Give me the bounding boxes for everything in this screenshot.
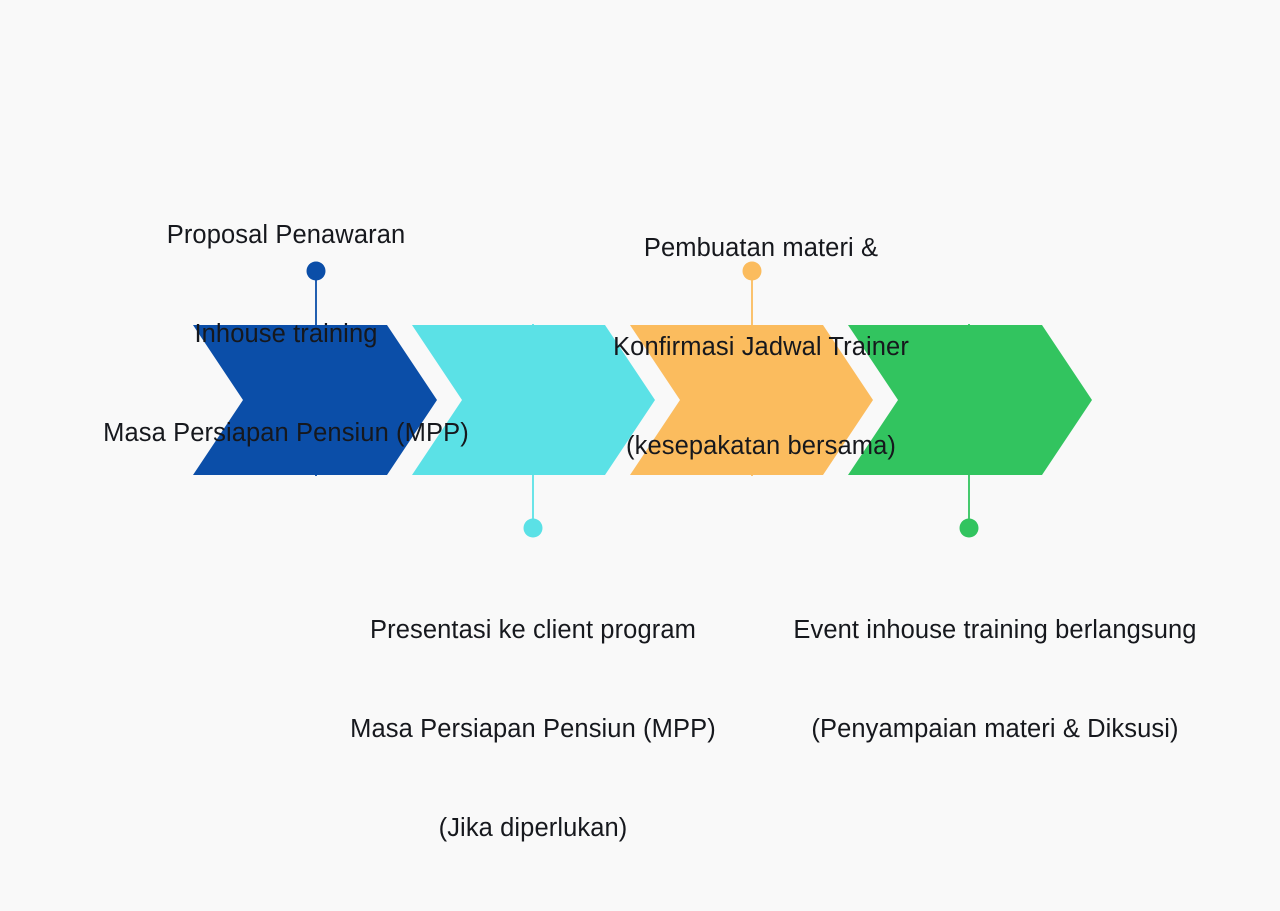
step-2-label-line-1: Presentasi ke client program (263, 614, 803, 647)
step-3-label-line-1: Pembuatan materi & (493, 232, 1029, 265)
step-2-label-line-3: (Jika diperlukan) (263, 812, 803, 845)
step-3-label: Pembuatan materi & Konfirmasi Jadwal Tra… (493, 166, 1029, 529)
step-1-label: Proposal Penawaran Inhouse training Masa… (16, 153, 556, 516)
step-3-label-line-3: (kesepakatan bersama) (493, 430, 1029, 463)
step-4-label: Event inhouse training berlangsung (Peny… (725, 548, 1265, 812)
step-3-label-line-2: Konfirmasi Jadwal Trainer (493, 331, 1029, 364)
step-1-label-line-1: Proposal Penawaran (16, 219, 556, 252)
step-1-label-line-3: Masa Persiapan Pensiun (MPP) (16, 417, 556, 450)
step-4-label-line-1: Event inhouse training berlangsung (725, 614, 1265, 647)
step-1-label-line-2: Inhouse training (16, 318, 556, 351)
step-2-label-line-2: Masa Persiapan Pensiun (MPP) (263, 713, 803, 746)
step-4-label-line-2: (Penyampaian materi & Diksusi) (725, 713, 1265, 746)
step-2-label: Presentasi ke client program Masa Persia… (263, 548, 803, 911)
diagram-canvas: Proposal Penawaran Inhouse training Masa… (0, 0, 1280, 800)
